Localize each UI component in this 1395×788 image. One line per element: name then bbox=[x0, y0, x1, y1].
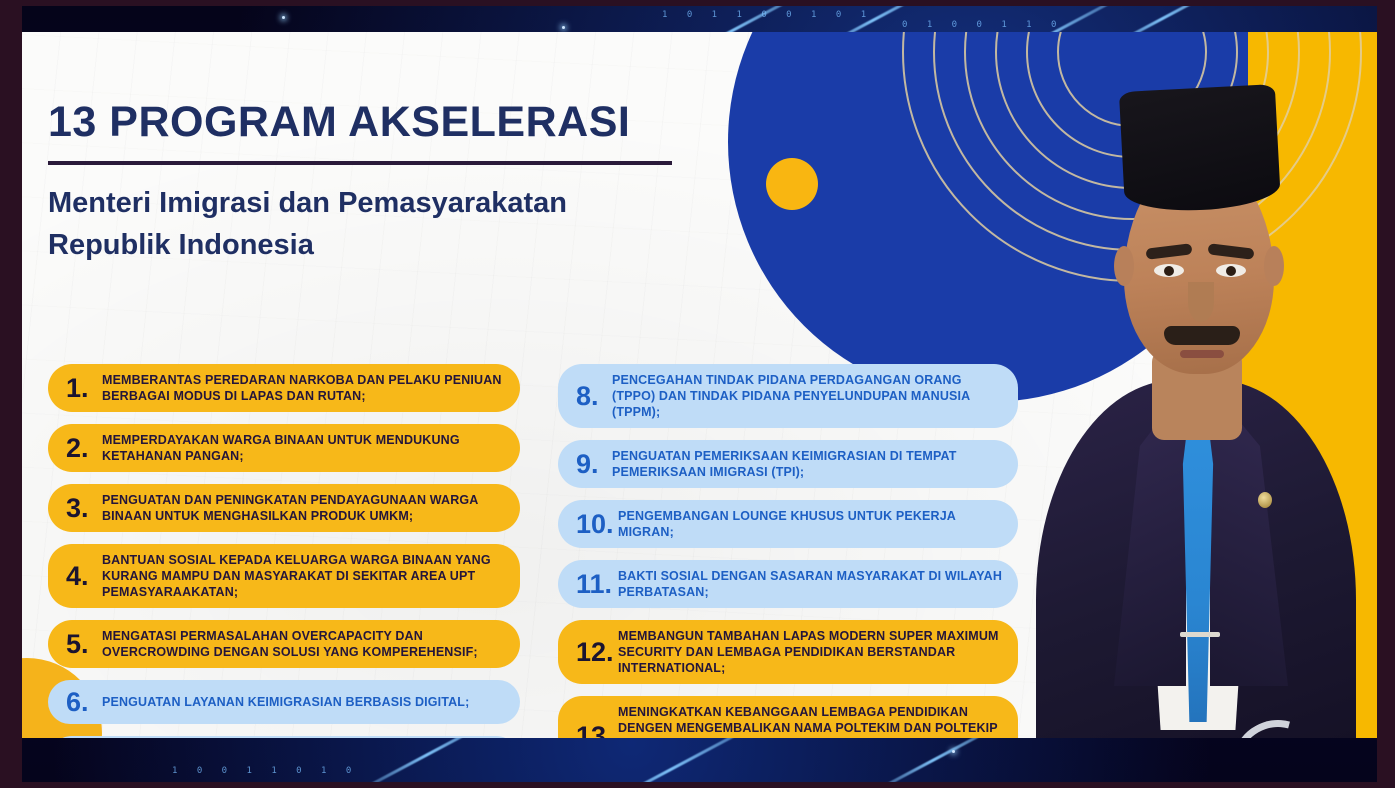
program-text: PENGUATAN PEMERIKSAAN KEIMIGRASIAN DI TE… bbox=[612, 448, 1002, 480]
program-item[interactable]: 6.PENGUATAN LAYANAN KEIMIGRASIAN BERBASI… bbox=[48, 680, 520, 724]
tie-clip bbox=[1180, 632, 1220, 637]
program-text: PENCEGAHAN TINDAK PIDANA PERDAGANGAN ORA… bbox=[612, 372, 1002, 420]
title-divider bbox=[48, 161, 672, 165]
left-pupil bbox=[1164, 266, 1174, 276]
nose-shape bbox=[1188, 282, 1214, 322]
program-column-right: 8.PENCEGAHAN TINDAK PIDANA PERDAGANGAN O… bbox=[558, 364, 1018, 738]
program-text: BAKTI SOSIAL DENGAN SASARAN MASYARAKAT D… bbox=[618, 568, 1002, 600]
program-text: BANTUAN SOSIAL KEPADA KELUARGA WARGA BIN… bbox=[102, 552, 504, 600]
program-text: MENINGKATKAN KEBANGGAAN LEMBAGA PENDIDIK… bbox=[618, 704, 1002, 738]
program-item[interactable]: 3.PENGUATAN DAN PENINGKATAN PENDAYAGUNAA… bbox=[48, 484, 520, 532]
left-ear bbox=[1114, 246, 1134, 286]
page-subtitle-line-2: Republik Indonesia bbox=[48, 225, 748, 267]
moustache-shape bbox=[1164, 326, 1240, 345]
program-number: 3. bbox=[62, 495, 102, 522]
program-number: 5. bbox=[62, 631, 102, 658]
program-text: MENGATASI PERMASALAHAN OVERCAPACITY DAN … bbox=[102, 628, 504, 660]
program-item[interactable]: 2.MEMPERDAYAKAN WARGA BINAAN UNTUK MENDU… bbox=[48, 424, 520, 472]
program-text: PENGUATAN LAYANAN KEIMIGRASIAN BERBASIS … bbox=[102, 694, 504, 710]
peci-cap bbox=[1119, 84, 1281, 214]
program-text: MEMPERDAYAKAN WARGA BINAAN UNTUK MENDUKU… bbox=[102, 432, 504, 464]
minister-portrait bbox=[1028, 50, 1358, 738]
program-number: 13. bbox=[572, 723, 618, 739]
page-title: 13 PROGRAM AKSELERASI bbox=[48, 100, 748, 145]
program-item[interactable]: 8.PENCEGAHAN TINDAK PIDANA PERDAGANGAN O… bbox=[558, 364, 1018, 428]
right-pupil bbox=[1226, 266, 1236, 276]
program-number: 4. bbox=[62, 563, 102, 590]
program-item[interactable]: 11.BAKTI SOSIAL DENGAN SASARAN MASYARAKA… bbox=[558, 560, 1018, 608]
mouth-shape bbox=[1180, 350, 1224, 358]
page-subtitle-line-1: Menteri Imigrasi dan Pemasyarakatan bbox=[48, 183, 748, 225]
program-item[interactable]: 7.PENGEMBANGAN AUTOGATE PADA SELURUH BAN… bbox=[48, 736, 520, 738]
program-item[interactable]: 13.MENINGKATKAN KEBANGGAAN LEMBAGA PENDI… bbox=[558, 696, 1018, 738]
program-item[interactable]: 4.BANTUAN SOSIAL KEPADA KELUARGA WARGA B… bbox=[48, 544, 520, 608]
program-item[interactable]: 5.MENGATASI PERMASALAHAN OVERCAPACITY DA… bbox=[48, 620, 520, 668]
program-text: MEMBERANTAS PEREDARAN NARKOBA DAN PELAKU… bbox=[102, 372, 504, 404]
program-number: 9. bbox=[572, 451, 612, 478]
heading-block: 13 PROGRAM AKSELERASI Menteri Imigrasi d… bbox=[48, 100, 748, 267]
program-column-left: 1.MEMBERANTAS PEREDARAN NARKOBA DAN PELA… bbox=[48, 364, 520, 738]
yellow-dot-decoration bbox=[766, 158, 818, 210]
program-number: 8. bbox=[572, 383, 612, 410]
infographic-stage: 1 0 1 1 0 0 1 0 1 0 1 0 0 1 1 0 1 0 0 1 … bbox=[0, 0, 1395, 788]
program-text: PENGUATAN DAN PENINGKATAN PENDAYAGUNAAN … bbox=[102, 492, 504, 524]
program-number: 11. bbox=[572, 571, 618, 598]
program-number: 1. bbox=[62, 375, 102, 402]
program-text: PENGEMBANGAN LOUNGE KHUSUS UNTUK PEKERJA… bbox=[618, 508, 1002, 540]
right-ear bbox=[1264, 246, 1284, 286]
poster-card: 13 PROGRAM AKSELERASI Menteri Imigrasi d… bbox=[22, 32, 1377, 738]
program-number: 12. bbox=[572, 639, 618, 666]
lapel-pin-icon bbox=[1258, 492, 1272, 508]
program-number: 6. bbox=[62, 689, 102, 716]
program-text: MEMBANGUN TAMBAHAN LAPAS MODERN SUPER MA… bbox=[618, 628, 1002, 676]
program-item[interactable]: 9.PENGUATAN PEMERIKSAAN KEIMIGRASIAN DI … bbox=[558, 440, 1018, 488]
program-item[interactable]: 10.PENGEMBANGAN LOUNGE KHUSUS UNTUK PEKE… bbox=[558, 500, 1018, 548]
program-item[interactable]: 12.MEMBANGUN TAMBAHAN LAPAS MODERN SUPER… bbox=[558, 620, 1018, 684]
program-item[interactable]: 1.MEMBERANTAS PEREDARAN NARKOBA DAN PELA… bbox=[48, 364, 520, 412]
program-number: 10. bbox=[572, 511, 618, 538]
program-number: 2. bbox=[62, 435, 102, 462]
